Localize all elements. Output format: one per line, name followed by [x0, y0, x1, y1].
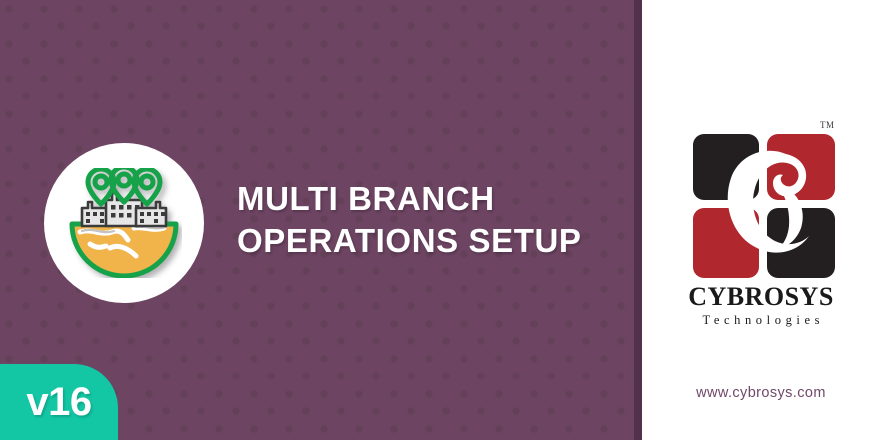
brand-website-url[interactable]: www.cybrosys.com — [642, 383, 880, 403]
page-title: MULTI BRANCH OPERATIONS SETUP — [237, 178, 627, 262]
left-purple-panel: MULTI BRANCH OPERATIONS SETUP v16 — [0, 0, 634, 440]
right-brand-panel: TM CYBROSYS Technologies www.cybrosys.co… — [642, 0, 880, 440]
panel-divider — [634, 0, 642, 440]
brand-subtitle: Technologies — [642, 312, 880, 328]
icon-medallion — [44, 143, 204, 303]
cybrosys-logo: TM — [681, 118, 841, 283]
version-label: v16 — [0, 378, 118, 426]
title-line-1: MULTI BRANCH — [237, 178, 627, 220]
title-line-2: OPERATIONS SETUP — [237, 220, 627, 262]
trademark-symbol: TM — [820, 120, 835, 130]
location-pins — [88, 168, 160, 204]
product-banner: MULTI BRANCH OPERATIONS SETUP v16 TM — [0, 0, 880, 440]
multi-branch-globe-icon — [66, 168, 182, 278]
cybrosys-logo-mark — [691, 132, 837, 280]
brand-name: CYBROSYS — [642, 283, 880, 311]
version-badge: v16 — [0, 364, 118, 440]
